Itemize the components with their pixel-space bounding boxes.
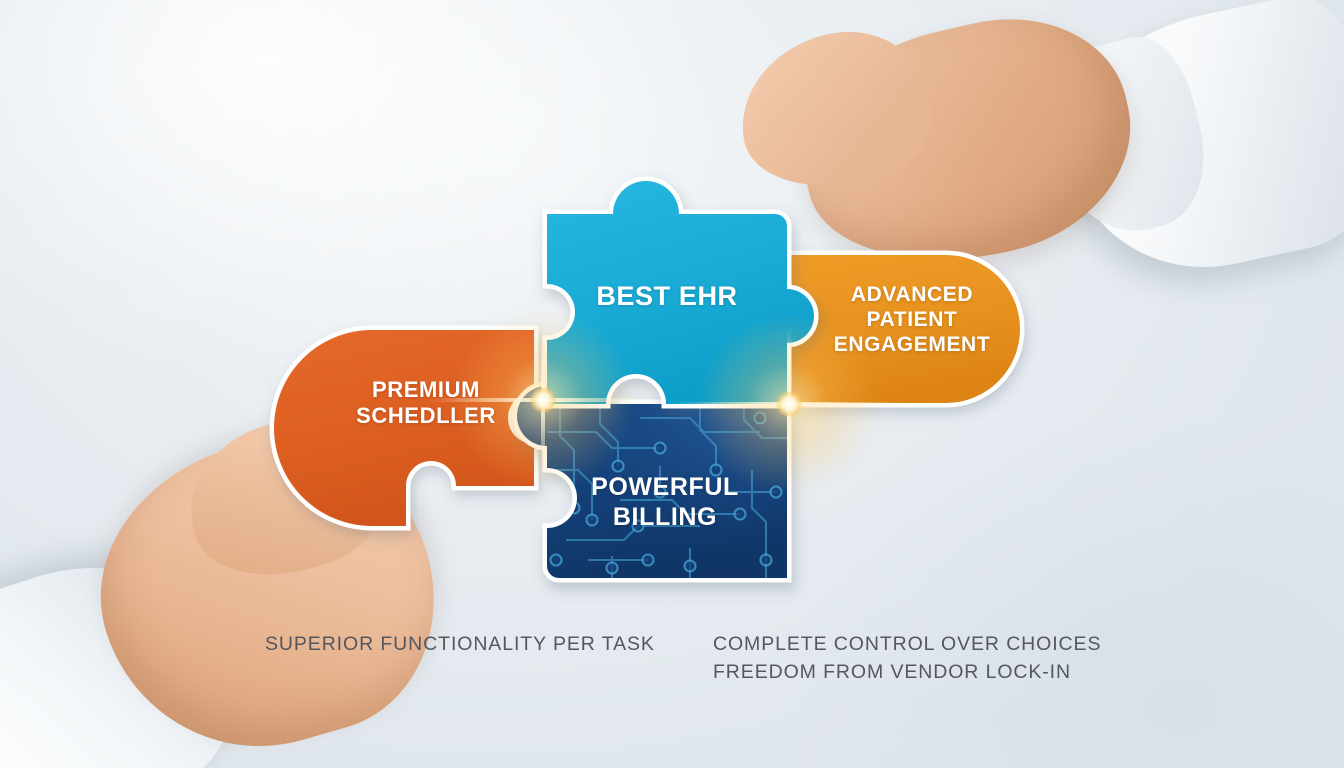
- puzzle-piece-advanced-patient-engagement[interactable]: [790, 255, 1020, 403]
- puzzle-piece-best-ehr[interactable]: [547, 181, 814, 404]
- circuit-board-texture: [540, 380, 800, 590]
- puzzle-graphic: [0, 0, 1344, 768]
- image-canvas: BEST EHR ADVANCED PATIENT ENGAGEMENT PRE…: [0, 0, 1344, 768]
- caption-right: COMPLETE CONTROL OVER CHOICES FREEDOM FR…: [713, 630, 1101, 687]
- caption-left: SUPERIOR FUNCTIONALITY PER TASK: [265, 630, 655, 658]
- puzzle-piece-premium-schedller[interactable]: [274, 330, 534, 526]
- puzzle-piece-powerful-billing[interactable]: [517, 380, 800, 590]
